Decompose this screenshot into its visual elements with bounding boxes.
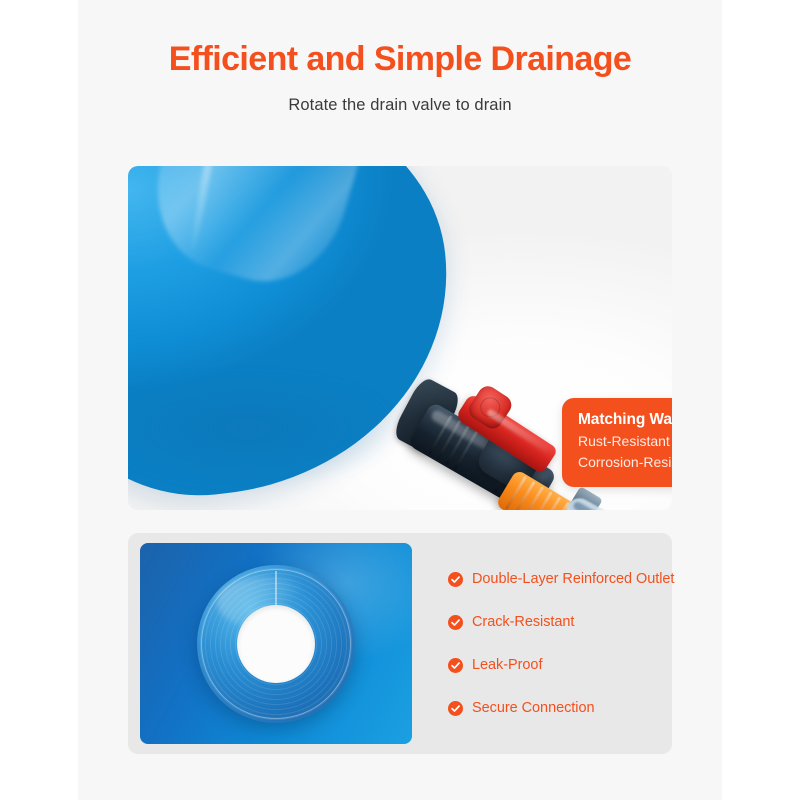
callout-title: Matching Water Outlet: [578, 411, 672, 430]
page-subtitle: Rotate the drain valve to drain: [78, 96, 722, 115]
feature-label: Crack-Resistant: [472, 614, 574, 630]
check-circle-icon: [448, 572, 463, 587]
page-header: Efficient and Simple Drainage Rotate the…: [78, 0, 722, 115]
bladder-highlight: [137, 166, 383, 300]
feature-item-crack-resistant: Crack-Resistant: [448, 614, 674, 630]
page-title: Efficient and Simple Drainage: [78, 40, 722, 79]
outlet-ring: [197, 565, 355, 723]
matching-water-outlet-callout: Matching Water Outlet Rust-Resistant and…: [562, 398, 672, 487]
features-panel: Double-Layer Reinforced Outlet Crack-Res…: [128, 533, 672, 754]
check-circle-icon: [448, 701, 463, 716]
bladder-shadow: [128, 374, 398, 484]
feature-item-leak-proof: Leak-Proof: [448, 657, 674, 673]
feature-label: Leak-Proof: [472, 657, 542, 673]
feature-label: Double-Layer Reinforced Outlet: [472, 571, 674, 587]
check-circle-icon: [448, 615, 463, 630]
reinforced-outlet-ring-photo: [140, 543, 412, 744]
ring-center-hole: [237, 605, 315, 683]
feature-label: Secure Connection: [472, 700, 594, 716]
feature-list: Double-Layer Reinforced Outlet Crack-Res…: [412, 571, 688, 716]
check-circle-icon: [448, 658, 463, 673]
product-feature-page: Efficient and Simple Drainage Rotate the…: [0, 0, 800, 800]
callout-line-1: Rust-Resistant and: [578, 432, 672, 451]
drain-valve-photo-panel: Matching Water Outlet Rust-Resistant and…: [128, 166, 672, 510]
feature-item-double-layer-reinforced-outlet: Double-Layer Reinforced Outlet: [448, 571, 674, 587]
feature-item-secure-connection: Secure Connection: [448, 700, 674, 716]
callout-line-2: Corrosion-Resistant: [578, 453, 672, 472]
